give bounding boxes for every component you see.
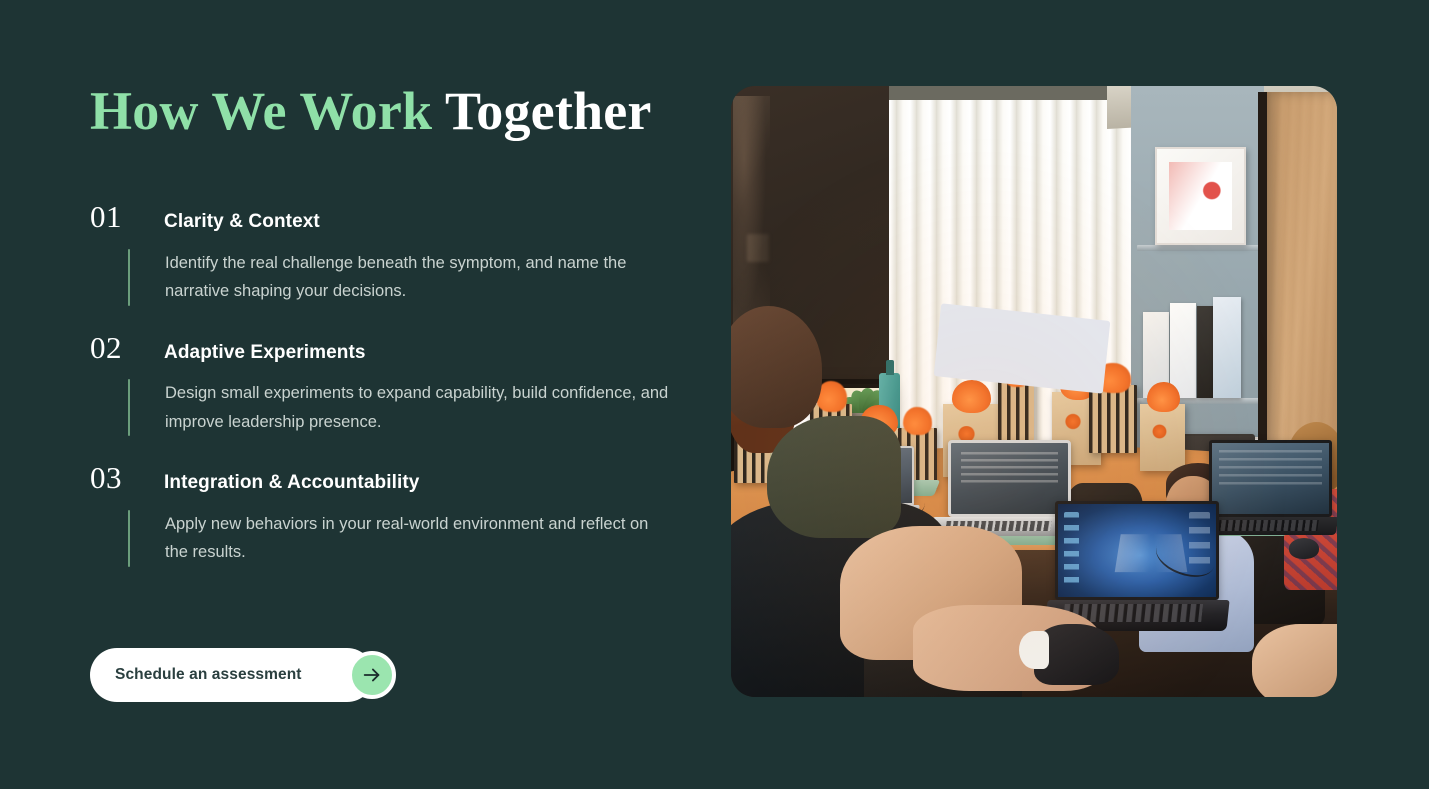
photo-scene — [731, 86, 1337, 697]
shelf-book-4 — [1213, 297, 1241, 398]
step-item-2: 02 Adaptive Experiments Design small exp… — [90, 332, 700, 437]
steps-list: 01 Clarity & Context Identify the real c… — [90, 201, 700, 567]
page-title-accent: How We Work — [90, 81, 432, 141]
shelf-book-3 — [1197, 306, 1213, 398]
desktop-icon-column — [1064, 512, 1078, 588]
step-header-1: 01 Clarity & Context — [90, 201, 700, 234]
step-body-3: Apply new behaviors in your real-world e… — [90, 510, 700, 567]
page-title: How We Work Together — [90, 84, 700, 138]
person-foreground-shoe — [1034, 624, 1119, 685]
arrow-right-icon[interactable] — [348, 651, 396, 699]
window-header-rail — [876, 86, 1137, 100]
step-item-1: 01 Clarity & Context Identify the real c… — [90, 201, 700, 306]
cta-container: Schedule an assessment — [90, 648, 374, 702]
step-title-1: Clarity & Context — [154, 211, 320, 234]
step-description-2: Design small experiments to expand capab… — [130, 379, 675, 436]
laptop-right-keyboard — [1214, 520, 1320, 531]
slide-root: How We Work Together 01 Clarity & Contex… — [0, 0, 1429, 789]
shelf-book-2 — [1170, 303, 1197, 398]
step-description-3: Apply new behaviors in your real-world e… — [130, 510, 675, 567]
framed-artwork-top — [1155, 147, 1246, 245]
schedule-assessment-button[interactable]: Schedule an assessment — [90, 648, 374, 702]
step-item-3: 03 Integration & Accountability Apply ne… — [90, 462, 700, 567]
content-column: How We Work Together 01 Clarity & Contex… — [90, 84, 700, 567]
gift-bag-plain-4 — [1140, 404, 1185, 471]
step-header-3: 03 Integration & Accountability — [90, 462, 700, 495]
person-foreground-arm — [767, 416, 900, 538]
page-title-rest: Together — [432, 81, 651, 141]
step-header-2: 02 Adaptive Experiments — [90, 332, 700, 365]
step-description-1: Identify the real challenge beneath the … — [130, 249, 675, 306]
gift-bag-3 — [998, 379, 1034, 440]
step-number-3: 03 — [90, 462, 154, 493]
step-body-2: Design small experiments to expand capab… — [90, 379, 700, 436]
wall-shelf-top — [1137, 245, 1264, 251]
gift-bag-4 — [1089, 385, 1137, 452]
step-title-3: Integration & Accountability — [154, 472, 419, 495]
computer-mouse — [1289, 538, 1319, 559]
step-number-1: 01 — [90, 201, 154, 232]
conference-room-photo — [731, 86, 1337, 697]
cta-label: Schedule an assessment — [115, 666, 302, 684]
step-body-1: Identify the real challenge beneath the … — [90, 249, 700, 306]
step-title-2: Adaptive Experiments — [154, 342, 366, 365]
hand-bottom-right — [1252, 624, 1337, 697]
wall-logo-sign — [747, 234, 769, 263]
step-number-2: 02 — [90, 332, 154, 363]
